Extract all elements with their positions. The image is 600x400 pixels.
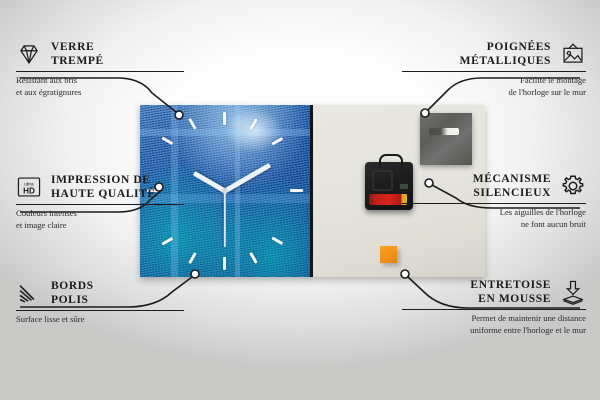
callout-divider [402, 203, 586, 204]
callout-description: Permet de maintenir une distance uniform… [400, 313, 586, 335]
callout-poignees-metalliques[interactable]: POIGNÉES MÉTALLIQUES Facilite le montage… [400, 40, 586, 98]
callout-description: Résistant aux bris et aux égratignures [16, 75, 186, 97]
callout-entretoise-en-mousse[interactable]: ENTRETOISE EN MOUSSE Permet de maintenir… [400, 278, 586, 336]
clock-center-cap [222, 188, 228, 194]
clock-second-hand [224, 191, 226, 247]
hanger-keyhole-slot [429, 128, 459, 135]
callout-header: ENTRETOISE EN MOUSSE [400, 278, 586, 306]
callout-title: MÉCANISME SILENCIEUX [473, 172, 551, 200]
polished-edges-icon [16, 280, 42, 306]
mechanism-hanging-hook [379, 154, 403, 168]
callout-description: Surface lisse et sûre [16, 314, 186, 325]
ultra-hd-icon: ultra HD [16, 174, 42, 200]
callout-header: MÉCANISME SILENCIEUX [400, 172, 586, 200]
foam-spacer-arrow-icon [560, 279, 586, 305]
callout-divider [16, 310, 184, 311]
diamond-icon [16, 41, 42, 67]
callout-header: BORDS POLIS [16, 279, 186, 307]
hour-tick [271, 137, 283, 145]
callout-divider [16, 204, 184, 205]
hour-tick [249, 118, 257, 130]
picture-hanger-icon [560, 41, 586, 67]
hour-tick [223, 112, 226, 125]
callout-header: VERRE TREMPÉ [16, 40, 186, 68]
callout-verre-trempe[interactable]: VERRE TREMPÉ Résistant aux bris et aux é… [16, 40, 186, 98]
callout-title: IMPRESSION DE HAUTE QUALITÉ [51, 173, 156, 201]
foam-spacer-pad [380, 246, 397, 263]
callout-title: POIGNÉES MÉTALLIQUES [460, 40, 551, 68]
mechanism-gear-housing [372, 170, 393, 191]
product-feature-infographic: VERRE TREMPÉ Résistant aux bris et aux é… [0, 0, 600, 400]
callout-divider [402, 71, 586, 72]
callout-description: Les aiguilles de l'horloge ne font aucun… [400, 207, 586, 229]
callout-description: Facilite le montage de l'horloge sur le … [400, 75, 586, 97]
hour-tick [188, 118, 196, 130]
callout-mecanisme-silencieux[interactable]: MÉCANISME SILENCIEUX Les aiguilles de l'… [400, 172, 586, 230]
callout-header: POIGNÉES MÉTALLIQUES [400, 40, 586, 68]
callout-title: BORDS POLIS [51, 279, 94, 307]
callout-title: ENTRETOISE EN MOUSSE [470, 278, 551, 306]
svg-text:HD: HD [23, 187, 35, 196]
hour-tick [290, 189, 303, 192]
hour-tick [249, 252, 257, 264]
callout-impression-haute-qualite[interactable]: ultra HD IMPRESSION DE HAUTE QUALITÉ Cou… [16, 173, 186, 231]
callout-divider [16, 71, 184, 72]
callout-description: Couleurs intenses et image claire [16, 208, 186, 230]
hour-tick [161, 237, 173, 245]
callout-title: VERRE TREMPÉ [51, 40, 104, 68]
callout-bords-polis[interactable]: BORDS POLIS Surface lisse et sûre [16, 279, 186, 326]
callout-divider [402, 309, 586, 310]
hour-tick [223, 257, 226, 270]
hour-tick [271, 237, 283, 245]
gear-icon [560, 173, 586, 199]
metal-hanger-plate [420, 113, 472, 165]
hour-tick [161, 137, 173, 145]
callout-header: ultra HD IMPRESSION DE HAUTE QUALITÉ [16, 173, 186, 201]
clock-minute-hand [224, 163, 272, 193]
hour-tick [188, 252, 196, 264]
